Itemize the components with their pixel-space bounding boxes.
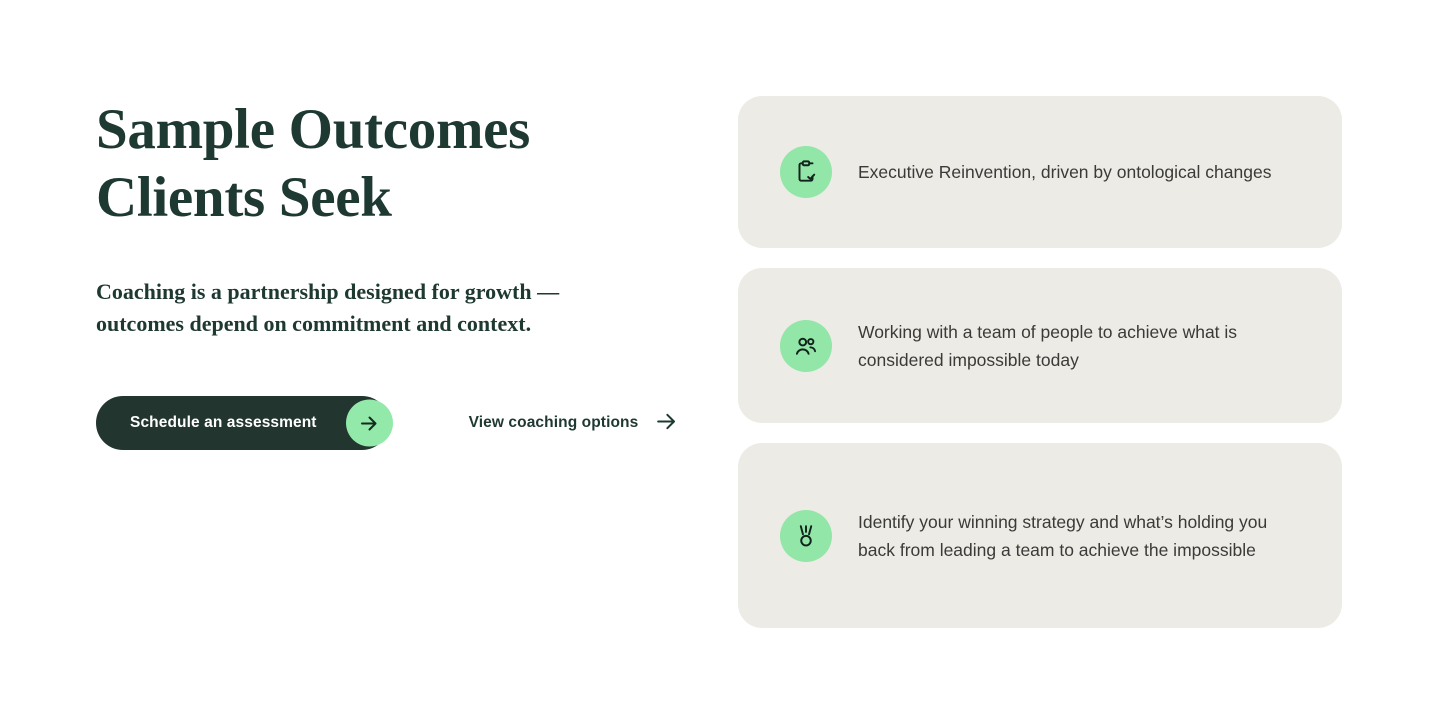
cta-row: Schedule an assessment View coaching opt… — [96, 396, 696, 450]
arrow-right-icon — [346, 400, 393, 447]
outcomes-section: Sample Outcomes Clients Seek Coaching is… — [0, 0, 1440, 708]
view-coaching-options-label: View coaching options — [469, 414, 639, 432]
schedule-assessment-button[interactable]: Schedule an assessment — [96, 396, 389, 450]
outcome-cards-list: Executive Reinvention, driven by ontolog… — [738, 96, 1342, 628]
arrow-right-icon — [654, 409, 679, 437]
clipboard-check-icon — [780, 146, 832, 198]
page-title: Sample Outcomes Clients Seek — [96, 96, 566, 232]
view-coaching-options-button[interactable]: View coaching options — [467, 403, 682, 443]
outcome-card-text: Executive Reinvention, driven by ontolog… — [858, 158, 1271, 186]
schedule-assessment-label: Schedule an assessment — [130, 414, 317, 432]
outcome-card[interactable]: Executive Reinvention, driven by ontolog… — [738, 96, 1342, 248]
outcome-card[interactable]: Working with a team of people to achieve… — [738, 268, 1342, 423]
outcome-card[interactable]: Identify your winning strategy and what’… — [738, 443, 1342, 628]
outcome-card-text: Identify your winning strategy and what’… — [858, 508, 1288, 564]
users-icon — [780, 320, 832, 372]
outcome-card-text: Working with a team of people to achieve… — [858, 318, 1288, 374]
medal-icon — [780, 510, 832, 562]
hero-column: Sample Outcomes Clients Seek Coaching is… — [96, 96, 696, 450]
page-subtitle: Coaching is a partnership designed for g… — [96, 276, 641, 340]
